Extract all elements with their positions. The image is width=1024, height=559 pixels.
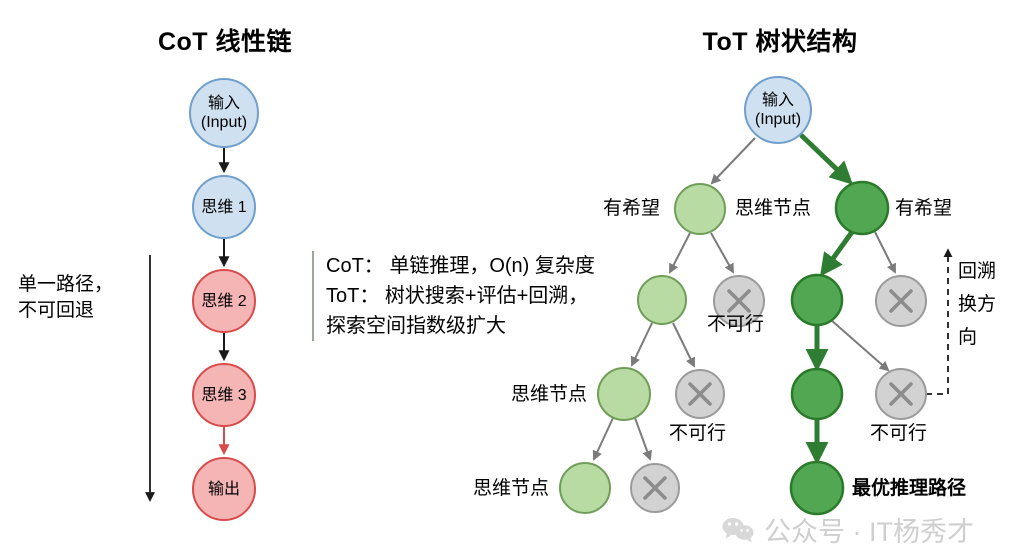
legend-line-2: ToT： 树状搜索+评估+回溯，: [326, 281, 595, 311]
tot-node-l3-right[interactable]: [792, 369, 842, 419]
backtrack-dashed-line: [926, 250, 948, 394]
tot-node-l4-left-infeasible[interactable]: [631, 464, 679, 512]
tot-node-l4-left[interactable]: [560, 463, 610, 513]
legend-line-3: 探索空间指数级扩大: [326, 311, 595, 341]
cot-panel-title: CoT 线性链: [90, 22, 360, 58]
tot-node-input[interactable]: [745, 77, 811, 143]
watermark-text: 公众号 · IT杨秀才: [764, 510, 974, 549]
tot-edge-l1r-l2r: [824, 232, 852, 271]
backtrack-line-2: 换方: [958, 288, 996, 321]
legend-line-1: CoT： 单链推理，O(n) 复杂度: [326, 251, 595, 281]
tot-node-l1-left[interactable]: [675, 184, 725, 234]
tot-edge-l1l-l2l: [670, 233, 690, 272]
wechat-icon: [722, 517, 756, 543]
tot-label-infeasible-1: 不可行: [707, 313, 764, 337]
tot-edge-l2l-l3x: [673, 323, 694, 366]
cot-node-thought-3[interactable]: [193, 364, 255, 426]
tot-node-l2-right[interactable]: [792, 275, 842, 325]
backtrack-line-1: 回溯: [958, 255, 996, 288]
tot-node-l3-left[interactable]: [598, 368, 650, 420]
tot-edge-root-left: [712, 138, 755, 183]
tot-label-thought-node-l3: 思维节点: [511, 383, 587, 407]
watermark: 公众号 · IT杨秀才: [722, 510, 974, 549]
diagram-canvas: CoT 线性链 ToT 树状结构 输入 (Input) 思维 1 思维 2 思维…: [0, 0, 1024, 559]
tot-label-promising-left: 有希望: [603, 197, 660, 221]
cot-annotation-line-1: 单一路径，: [18, 272, 113, 298]
tot-node-l4-right[interactable]: [791, 462, 843, 514]
tot-label-thought-node-l1: 思维节点: [735, 197, 811, 221]
tot-label-best-path: 最优推理路径: [852, 477, 966, 501]
tot-label-thought-node-l4: 思维节点: [473, 477, 549, 501]
tot-node-l2-right-infeasible[interactable]: [876, 276, 926, 326]
cot-node-output[interactable]: [193, 458, 255, 520]
tot-node-l1-right[interactable]: [836, 182, 888, 234]
cot-path-annotation: 单一路径， 不可回退: [18, 272, 113, 324]
cot-node-thought-2[interactable]: [193, 270, 255, 332]
tot-edge-l1l-l2x: [711, 233, 733, 272]
backtrack-line-3: 向: [958, 321, 996, 354]
cot-node-thought-1[interactable]: [193, 176, 255, 238]
tot-edge-l2r-l3x: [831, 320, 888, 370]
comparison-legend: CoT： 单链推理，O(n) 复杂度 ToT： 树状搜索+评估+回溯， 探索空间…: [312, 251, 595, 341]
tot-edge-l3l-l4x: [635, 418, 650, 459]
tot-node-l2-left[interactable]: [638, 276, 686, 324]
cot-annotation-line-2: 不可回退: [18, 298, 113, 324]
tot-panel-title: ToT 树状结构: [640, 22, 920, 58]
tot-label-infeasible-3: 不可行: [870, 422, 927, 446]
tot-edge-root-right: [802, 136, 848, 180]
tot-backtrack-path: [926, 250, 948, 394]
tot-label-promising-right: 有希望: [895, 197, 952, 221]
cot-node-input[interactable]: [190, 79, 258, 147]
tot-edge-l1r-l2x: [875, 232, 895, 272]
tot-node-l3-right-infeasible[interactable]: [876, 369, 926, 419]
tot-edge-l3l-l4l: [594, 418, 613, 459]
tot-label-infeasible-2: 不可行: [669, 422, 726, 446]
tot-edge-l2l-l3l: [632, 323, 652, 365]
tot-node-l3-left-infeasible[interactable]: [676, 370, 724, 418]
cot-nodes: [190, 79, 258, 520]
tot-nodes: [560, 77, 926, 514]
tot-backtrack-annotation: 回溯 换方 向: [958, 255, 996, 354]
